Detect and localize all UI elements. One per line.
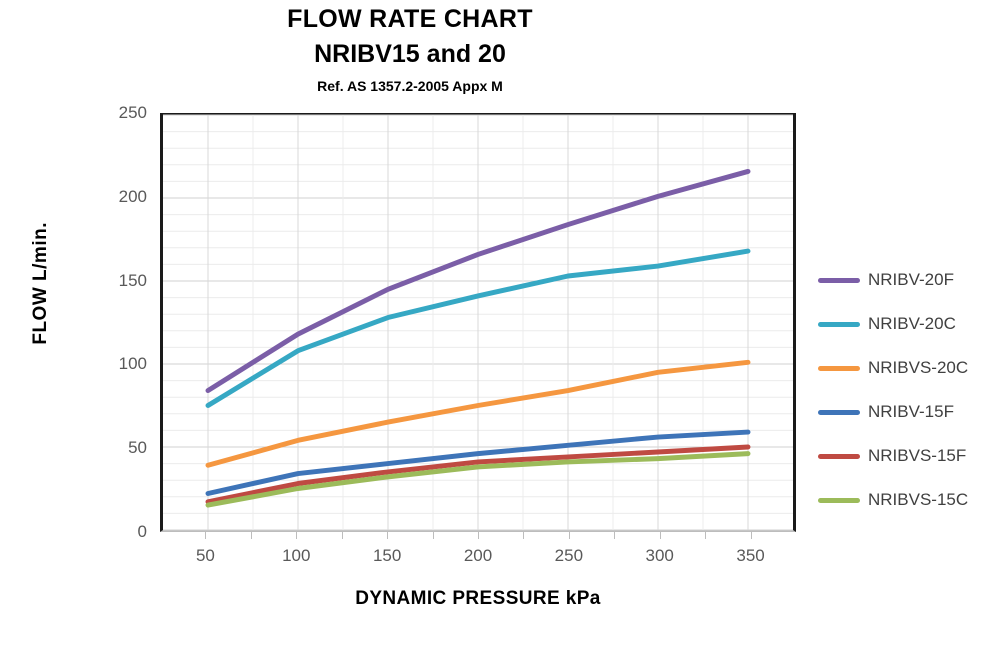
chart-title-sub: NRIBV15 and 20 [0,39,820,70]
legend-label: NRIBVS-15C [868,490,968,510]
chart-title-reference: Ref. AS 1357.2-2005 Appx M [0,78,820,94]
x-axis-tick-mark [296,532,297,539]
legend-label: NRIBV-15F [868,402,954,422]
x-axis-tick-mark [205,532,206,539]
x-tick-label: 300 [625,546,695,566]
x-axis-tick-mark [251,532,252,539]
y-axis-title: FLOW L/min. [30,222,58,345]
x-tick-label: 200 [443,546,513,566]
legend-item[interactable]: NRIBVS-20C [818,346,998,390]
x-axis-tick-mark [569,532,570,539]
legend-label: NRIBVS-20C [868,358,968,378]
x-axis-tick-mark [342,532,343,539]
x-tick-label: 150 [352,546,422,566]
legend-item[interactable]: NRIBV-15F [818,390,998,434]
chart-legend: NRIBV-20FNRIBV-20CNRIBVS-20CNRIBV-15FNRI… [818,258,998,522]
legend-color-swatch [818,278,860,283]
x-axis-title: DYNAMIC PRESSURE kPa [160,588,796,610]
x-axis-tick-labels: 50100150200250300350 [160,546,796,572]
y-tick-label: 100 [87,354,147,374]
x-axis-tick-mark [660,532,661,539]
legend-item[interactable]: NRIBVS-15F [818,434,998,478]
legend-label: NRIBV-20C [868,314,956,334]
x-axis-tick-mark [523,532,524,539]
x-tick-label: 50 [170,546,240,566]
legend-item[interactable]: NRIBV-20C [818,302,998,346]
y-tick-label: 50 [87,438,147,458]
x-axis-tick-mark [751,532,752,539]
legend-color-swatch [818,366,860,371]
x-axis-tick-mark [387,532,388,539]
x-axis-tick-mark [478,532,479,539]
legend-item[interactable]: NRIBV-20F [818,258,998,302]
plot-area [160,113,796,532]
x-tick-label: 350 [716,546,786,566]
legend-item[interactable]: NRIBVS-15C [818,478,998,522]
x-axis-tick-mark [614,532,615,539]
y-axis-tick-labels: 050100150200250 [85,113,147,532]
x-tick-label: 250 [534,546,604,566]
chart-title-main: FLOW RATE CHART [0,4,820,35]
chart-title-block: FLOW RATE CHART NRIBV15 and 20 Ref. AS 1… [0,4,820,94]
y-tick-label: 250 [87,103,147,123]
legend-color-swatch [818,454,860,459]
x-tick-label: 100 [261,546,331,566]
legend-color-swatch [818,410,860,415]
legend-color-swatch [818,498,860,503]
legend-label: NRIBV-20F [868,270,954,290]
data-series-lines [163,115,793,530]
y-tick-label: 0 [87,522,147,542]
legend-color-swatch [818,322,860,327]
y-tick-label: 200 [87,187,147,207]
x-axis-tick-mark [705,532,706,539]
x-axis-tick-mark [433,532,434,539]
series-line-nribv-20c [208,251,748,405]
legend-label: NRIBVS-15F [868,446,966,466]
y-tick-label: 150 [87,271,147,291]
